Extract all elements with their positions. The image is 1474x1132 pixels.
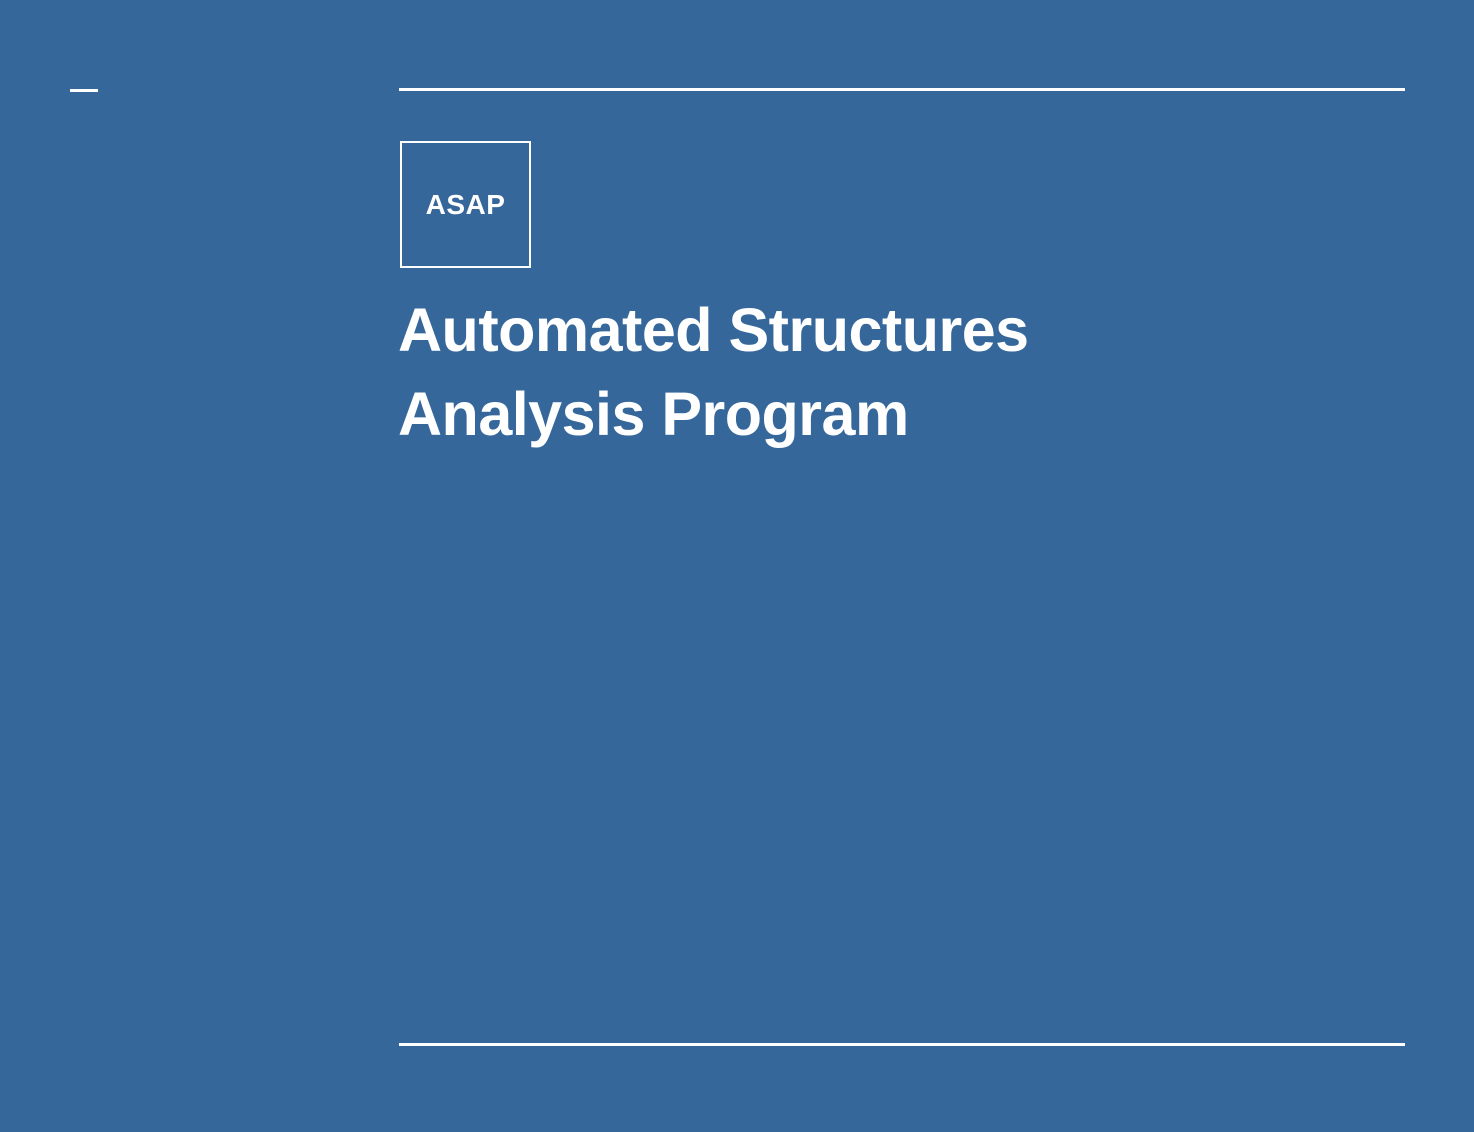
page-title-line-1: Automated Structures <box>398 288 1408 372</box>
page-title: Automated Structures Analysis Program <box>398 288 1408 456</box>
page-title-line-2: Analysis Program <box>398 372 1408 456</box>
asap-logo-badge: ASAP <box>400 141 531 268</box>
corner-dash-mark <box>70 89 98 92</box>
bottom-divider-rule <box>399 1043 1405 1046</box>
asap-logo-label: ASAP <box>426 191 506 219</box>
title-slide: ASAP Automated Structures Analysis Progr… <box>0 0 1474 1132</box>
top-divider-rule <box>399 88 1405 91</box>
